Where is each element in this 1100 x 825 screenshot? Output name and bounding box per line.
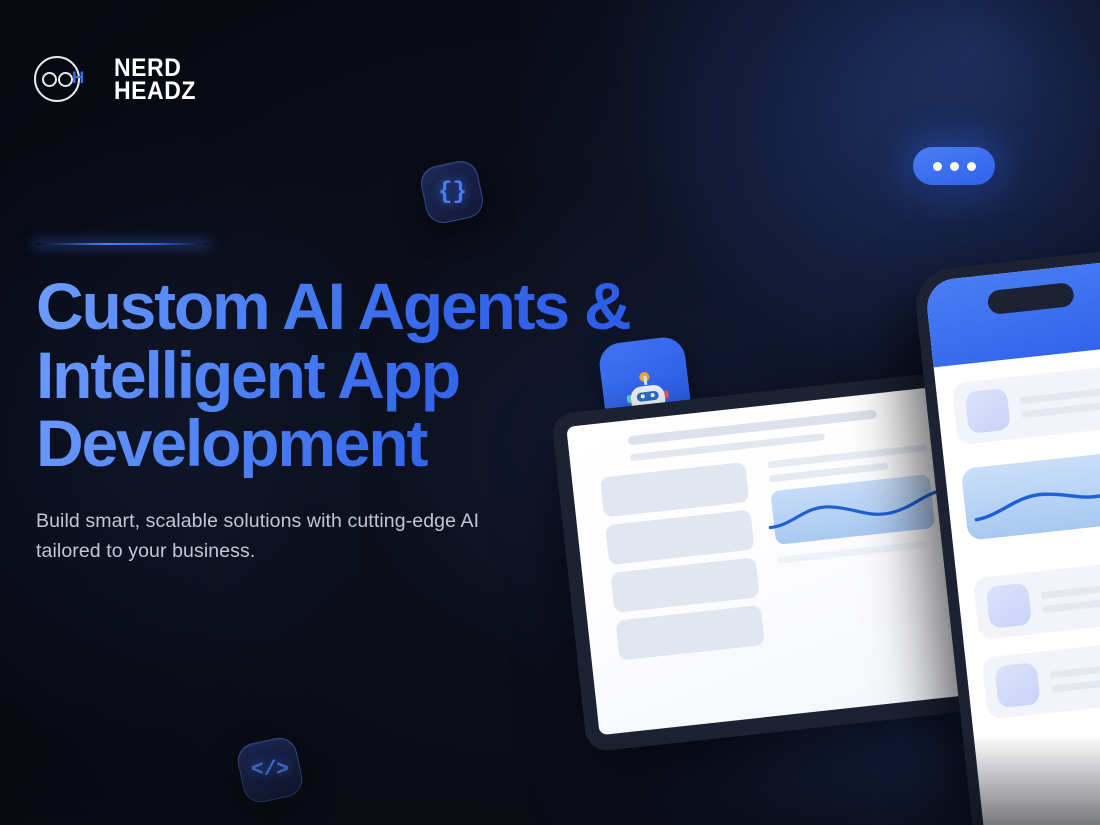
hero-section: H NERD HEADZ Custom AI Agents & Intellig… (0, 0, 1100, 825)
phone-screen (924, 259, 1100, 825)
list-item (973, 557, 1100, 640)
placeholder-bar (1042, 597, 1100, 613)
placeholder-bar (1019, 385, 1100, 404)
placeholder-card (615, 605, 764, 661)
list-item (952, 362, 1100, 445)
list-item-lines (1041, 580, 1100, 613)
typing-dot (967, 162, 976, 171)
curly-braces-icon: {} (418, 158, 487, 227)
list-item-lines (1049, 659, 1100, 692)
line-chart-icon (763, 477, 947, 542)
brand-logo[interactable]: H NERD HEADZ (34, 52, 203, 108)
typing-dot (950, 162, 959, 171)
curly-braces-glyph: {} (438, 179, 467, 206)
accent-divider (36, 243, 208, 245)
placeholder-bar (778, 541, 928, 564)
bottom-fade (0, 735, 1100, 825)
logo-h-glyph: H (72, 69, 83, 86)
placeholder-bar (1051, 676, 1100, 692)
typing-dot (933, 162, 942, 171)
brand-wordmark: NERD HEADZ (114, 57, 203, 104)
phone-device-mockup (912, 247, 1100, 825)
tablet-chart-card (770, 474, 935, 545)
typing-indicator-icon (913, 147, 995, 185)
line-chart-icon (962, 456, 1100, 535)
hero-subtitle: Build smart, scalable solutions with cut… (36, 506, 656, 566)
placeholder-bar (1041, 580, 1100, 599)
list-item-icon (965, 388, 1011, 434)
page-title: Custom AI Agents & Intelligent App Devel… (36, 272, 656, 478)
code-tag-glyph: </> (251, 759, 289, 782)
list-item (981, 637, 1100, 720)
nerdheadz-face-icon: H (34, 52, 90, 108)
placeholder-bar (767, 444, 927, 468)
eye-left-icon (42, 72, 57, 87)
phone-chart-card (961, 448, 1100, 541)
eye-right-icon (58, 72, 73, 87)
placeholder-bar (1049, 659, 1100, 678)
phone-frame (912, 247, 1100, 825)
placeholder-bar (1021, 402, 1100, 418)
list-item-icon (986, 583, 1032, 629)
list-item-lines (1019, 385, 1100, 418)
code-tag-icon: </> (234, 734, 305, 805)
hero-copy: Custom AI Agents & Intelligent App Devel… (36, 272, 656, 566)
list-item-icon (994, 662, 1040, 708)
wordmark-line-2: HEADZ (114, 80, 196, 103)
phone-app-header (924, 259, 1100, 367)
